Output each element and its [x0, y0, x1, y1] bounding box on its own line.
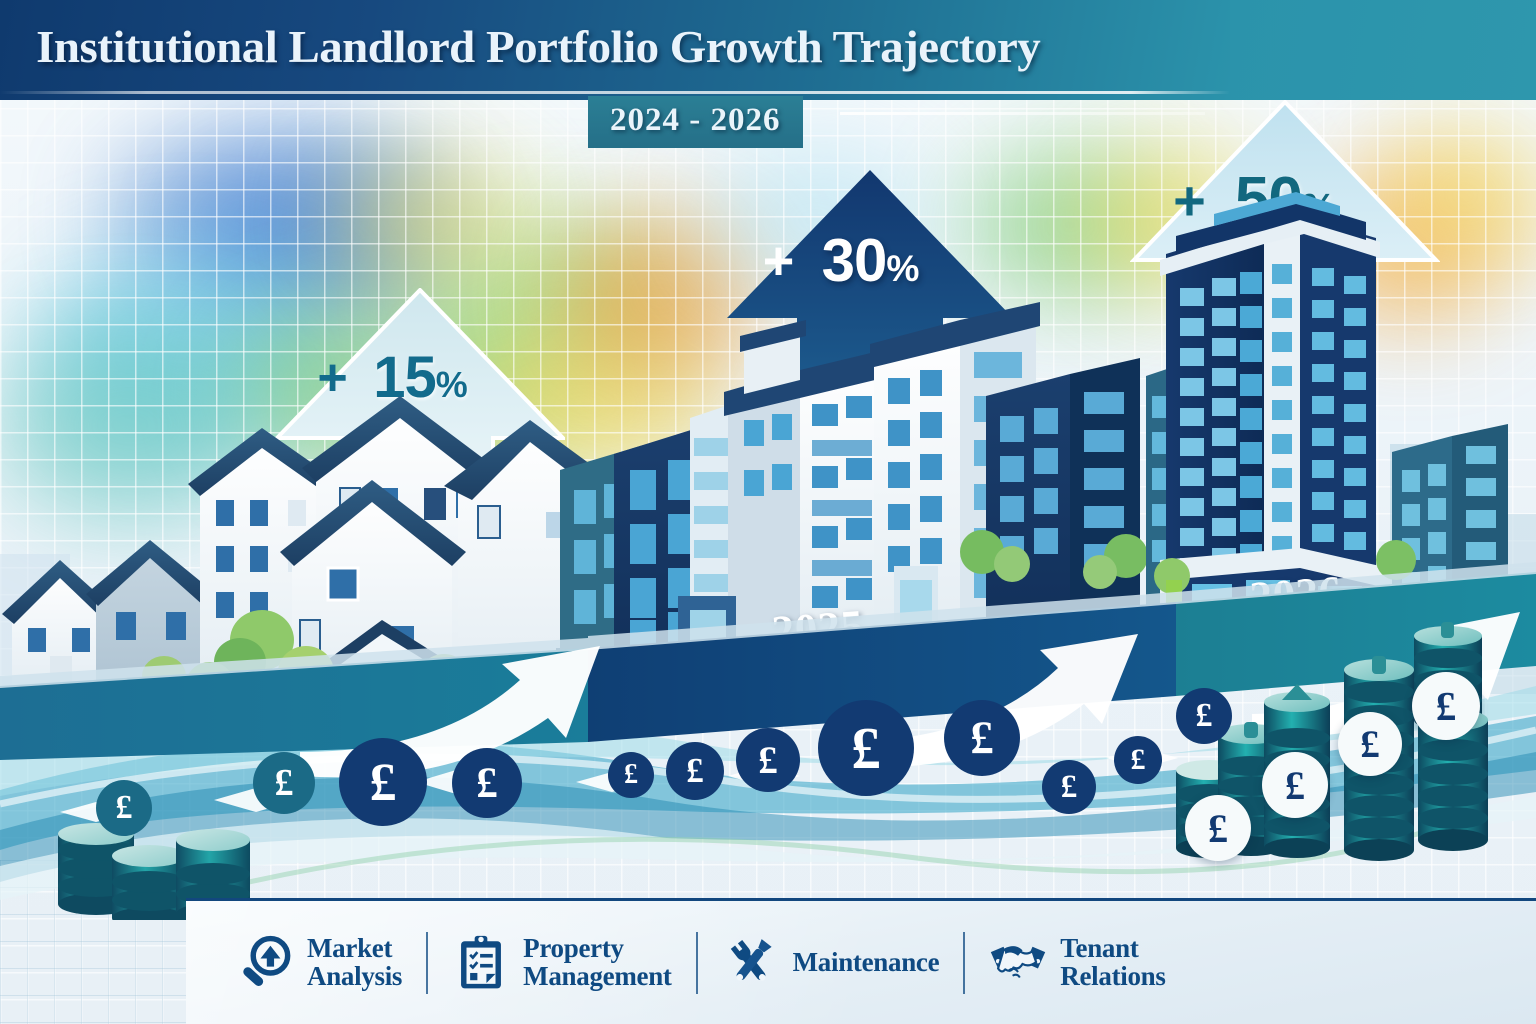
- legend-label-line2: Analysis: [307, 963, 402, 991]
- pound-symbol: £: [1360, 722, 1380, 767]
- header-banner: Institutional Landlord Portfolio Growth …: [0, 0, 1230, 100]
- legend-label-line1: Tenant: [1060, 935, 1165, 963]
- legend-item-market-analysis[interactable]: Market Analysis: [232, 934, 406, 992]
- magnifier-up-arrow-icon: [236, 934, 294, 992]
- pound-symbol: £: [758, 738, 778, 783]
- pound-coin: £: [666, 742, 724, 800]
- legend-label-maintenance: Maintenance: [793, 949, 940, 977]
- legend-bar: Market Analysis Property Management: [186, 898, 1536, 1024]
- legend-item-property-management[interactable]: Property Management: [448, 934, 675, 992]
- pound-coin: £: [608, 752, 654, 798]
- legend-label-line1: Property: [523, 935, 671, 963]
- pound-symbol: £: [1196, 697, 1213, 735]
- pound-symbol: £: [970, 711, 994, 765]
- pound-symbol: £: [1061, 769, 1078, 806]
- pound-symbol: £: [686, 751, 704, 791]
- pound-coin: £: [1042, 760, 1096, 814]
- pound-coin: £: [944, 700, 1020, 776]
- pound-symbol: £: [476, 759, 498, 808]
- pound-coin: £: [452, 748, 522, 818]
- legend-item-tenant-relations[interactable]: Tenant Relations: [985, 934, 1169, 992]
- legend-label-market-analysis: Market Analysis: [307, 935, 402, 991]
- pound-symbol: £: [1208, 805, 1228, 852]
- pound-symbol: £: [851, 714, 881, 783]
- pound-symbol: £: [1131, 743, 1146, 777]
- page-title: Institutional Landlord Portfolio Growth …: [36, 20, 1040, 73]
- pound-coin-badge: £: [1262, 752, 1328, 818]
- pound-symbol: £: [624, 759, 638, 791]
- handshake-icon: [989, 934, 1047, 992]
- legend-divider: [426, 932, 428, 994]
- pound-coin: £: [1176, 688, 1232, 744]
- legend-divider: [696, 932, 698, 994]
- subtitle-chip: 2024 - 2026: [588, 96, 803, 148]
- legend-label-line1: Market: [307, 935, 402, 963]
- coin-stack: [112, 845, 186, 920]
- wrench-screwdriver-icon: [722, 934, 780, 992]
- pound-coin: £: [736, 728, 800, 792]
- legend-label-line2: Relations: [1060, 963, 1165, 991]
- pound-coin-badge: £: [1412, 672, 1480, 740]
- header-notch: [1230, 0, 1536, 100]
- legend-label-tenant-relations: Tenant Relations: [1060, 935, 1165, 991]
- pound-coin: £: [818, 700, 914, 796]
- pound-coin-badge: £: [1185, 795, 1251, 861]
- legend-item-maintenance[interactable]: Maintenance: [718, 934, 944, 992]
- pound-symbol: £: [1436, 682, 1457, 730]
- legend-divider: [963, 932, 965, 994]
- pound-symbol: £: [275, 761, 294, 805]
- pound-symbol: £: [1285, 762, 1305, 809]
- pound-coin: £: [96, 780, 152, 836]
- pound-coin: £: [339, 738, 427, 826]
- pound-coin: £: [1114, 736, 1162, 784]
- pound-symbol: £: [370, 751, 397, 813]
- subtitle-rule: [840, 112, 1205, 115]
- infographic-poster: 50% + 30% + 15% +: [0, 0, 1536, 1024]
- legend-label-property-management: Property Management: [523, 935, 671, 991]
- legend-label-line2: Management: [523, 963, 671, 991]
- clipboard-checklist-icon: [452, 934, 510, 992]
- subtitle: 2024 - 2026: [610, 102, 781, 138]
- pound-coin: £: [253, 752, 315, 814]
- legend-label-line1: Maintenance: [793, 949, 940, 977]
- pound-symbol: £: [116, 789, 133, 827]
- pound-coin-badge: £: [1338, 712, 1402, 776]
